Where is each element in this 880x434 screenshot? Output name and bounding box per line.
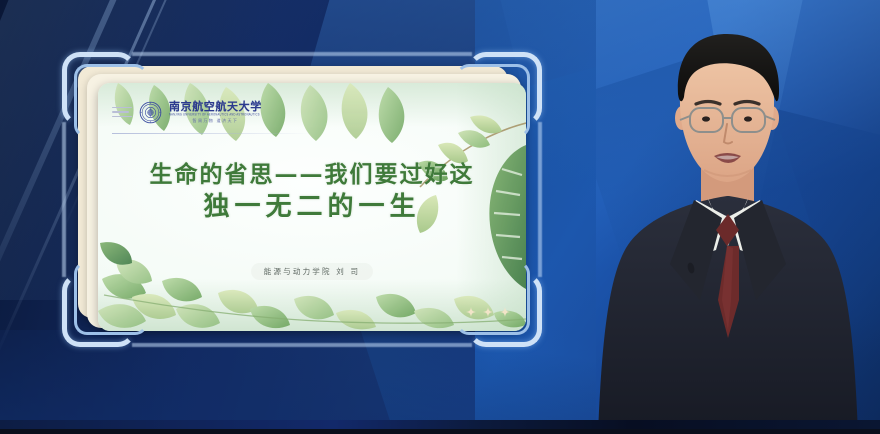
university-name-block: 南京航空航天大学 NANJING UNIVERSITY OF AERONAUTI… <box>169 101 262 123</box>
presenter-figure <box>596 0 880 434</box>
video-frame: 南京航空航天大学 NANJING UNIVERSITY OF AERONAUTI… <box>0 0 880 434</box>
slide-byline-text: 能源与动力学院 刘 司 <box>251 263 373 280</box>
university-motto: 智周万物 道济天下 <box>193 119 239 123</box>
university-name-en: NANJING UNIVERSITY OF AERONAUTICS AND AS… <box>169 114 262 117</box>
slide-title-line-2: 独一无二的一生 <box>98 190 526 225</box>
sparkle-icon <box>466 307 476 317</box>
slide-byline: 能源与动力学院 刘 司 <box>98 261 526 280</box>
presenter-region <box>596 0 880 434</box>
slide-title-line-1: 生命的省思——我们要过好这 <box>98 161 526 190</box>
sparkle-icon <box>500 307 510 317</box>
hamburger-icon <box>112 107 132 118</box>
header-divider <box>112 133 310 134</box>
bottom-edge-bar <box>0 429 880 434</box>
presentation-slide: 南京航空航天大学 NANJING UNIVERSITY OF AERONAUTI… <box>98 83 526 331</box>
sparkle-icon <box>483 307 493 317</box>
sparkle-decoration-group <box>466 307 510 317</box>
university-crest-icon <box>139 101 162 124</box>
slide-header: 南京航空航天大学 NANJING UNIVERSITY OF AERONAUTI… <box>112 95 512 129</box>
presentation-slide-stack: 南京航空航天大学 NANJING UNIVERSITY OF AERONAUTI… <box>78 66 530 334</box>
university-name-cn: 南京航空航天大学 <box>169 101 262 112</box>
slide-title-block: 生命的省思——我们要过好这 独一无二的一生 <box>98 161 526 225</box>
